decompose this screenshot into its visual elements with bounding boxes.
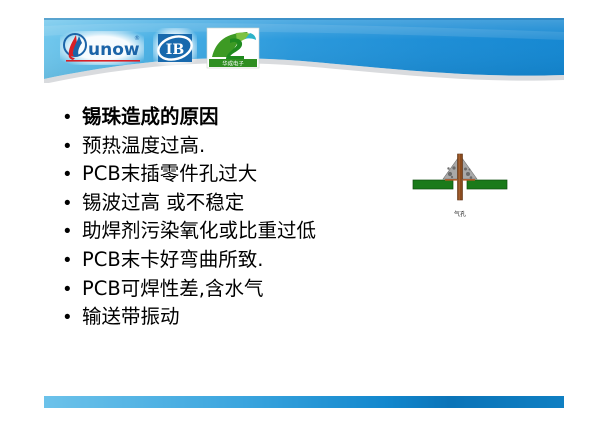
bullet-item-1: • 预热温度过高. <box>64 135 414 164</box>
bullet-item-2: • PCB末插零件孔过大 <box>64 163 414 192</box>
solder-joint-diagram: 气孔 <box>405 148 515 223</box>
bullet-marker-icon: • <box>64 280 82 299</box>
footer-accent-bar <box>44 396 564 408</box>
bullet-text-0: 锡珠造成的原因 <box>82 106 219 127</box>
bullet-item-4: • 助焊剂污染氧化或比重过低 <box>64 220 414 249</box>
bullet-text-6: PCB可焊性差,含水气 <box>82 278 263 299</box>
bullet-marker-icon: • <box>64 194 82 213</box>
ib-wordmark: IB <box>166 42 185 58</box>
bullet-item-5: • PCB末卡好弯曲所致. <box>64 249 414 278</box>
bullet-list: • 锡珠造成的原因 • 预热温度过高. • PCB末插零件孔过大 • 锡波过高 … <box>64 106 414 335</box>
unow-wordmark: unow <box>88 40 140 60</box>
bullet-text-2: PCB末插零件孔过大 <box>82 163 257 184</box>
ib-logo: IB <box>153 28 197 68</box>
bullet-marker-icon: • <box>64 251 82 270</box>
bullet-marker-icon: • <box>64 165 82 184</box>
bullet-marker-icon: • <box>64 108 82 127</box>
bullet-text-4: 助焊剂污染氧化或比重过低 <box>82 220 316 241</box>
bullet-item-3: • 锡波过高 或不稳定 <box>64 192 414 221</box>
unow-logo: unow ® <box>60 31 144 65</box>
huaxin-logo: 华成电子 <box>206 27 260 69</box>
bullet-marker-icon: • <box>64 222 82 241</box>
logo-row: unow ® IB <box>60 26 260 70</box>
bullet-marker-icon: • <box>64 308 82 327</box>
bullet-item-7: • 输送带振动 <box>64 306 414 335</box>
bullet-text-5: PCB末卡好弯曲所致. <box>82 249 263 270</box>
bullet-marker-icon: • <box>64 137 82 156</box>
bullet-text-3: 锡波过高 或不稳定 <box>82 192 244 213</box>
bullet-item-0: • 锡珠造成的原因 <box>64 106 414 135</box>
diagram-caption: 气孔 <box>405 209 515 218</box>
bullet-text-7: 输送带振动 <box>82 306 180 327</box>
bullet-item-6: • PCB可焊性差,含水气 <box>64 278 414 307</box>
solder-joint-cross-section-icon <box>405 148 515 208</box>
unow-trademark-icon: ® <box>134 35 140 42</box>
huaxin-wordmark: 华成电子 <box>222 60 244 68</box>
presentation-slide: unow ® IB <box>0 0 600 424</box>
bullet-text-1: 预热温度过高. <box>82 135 205 156</box>
